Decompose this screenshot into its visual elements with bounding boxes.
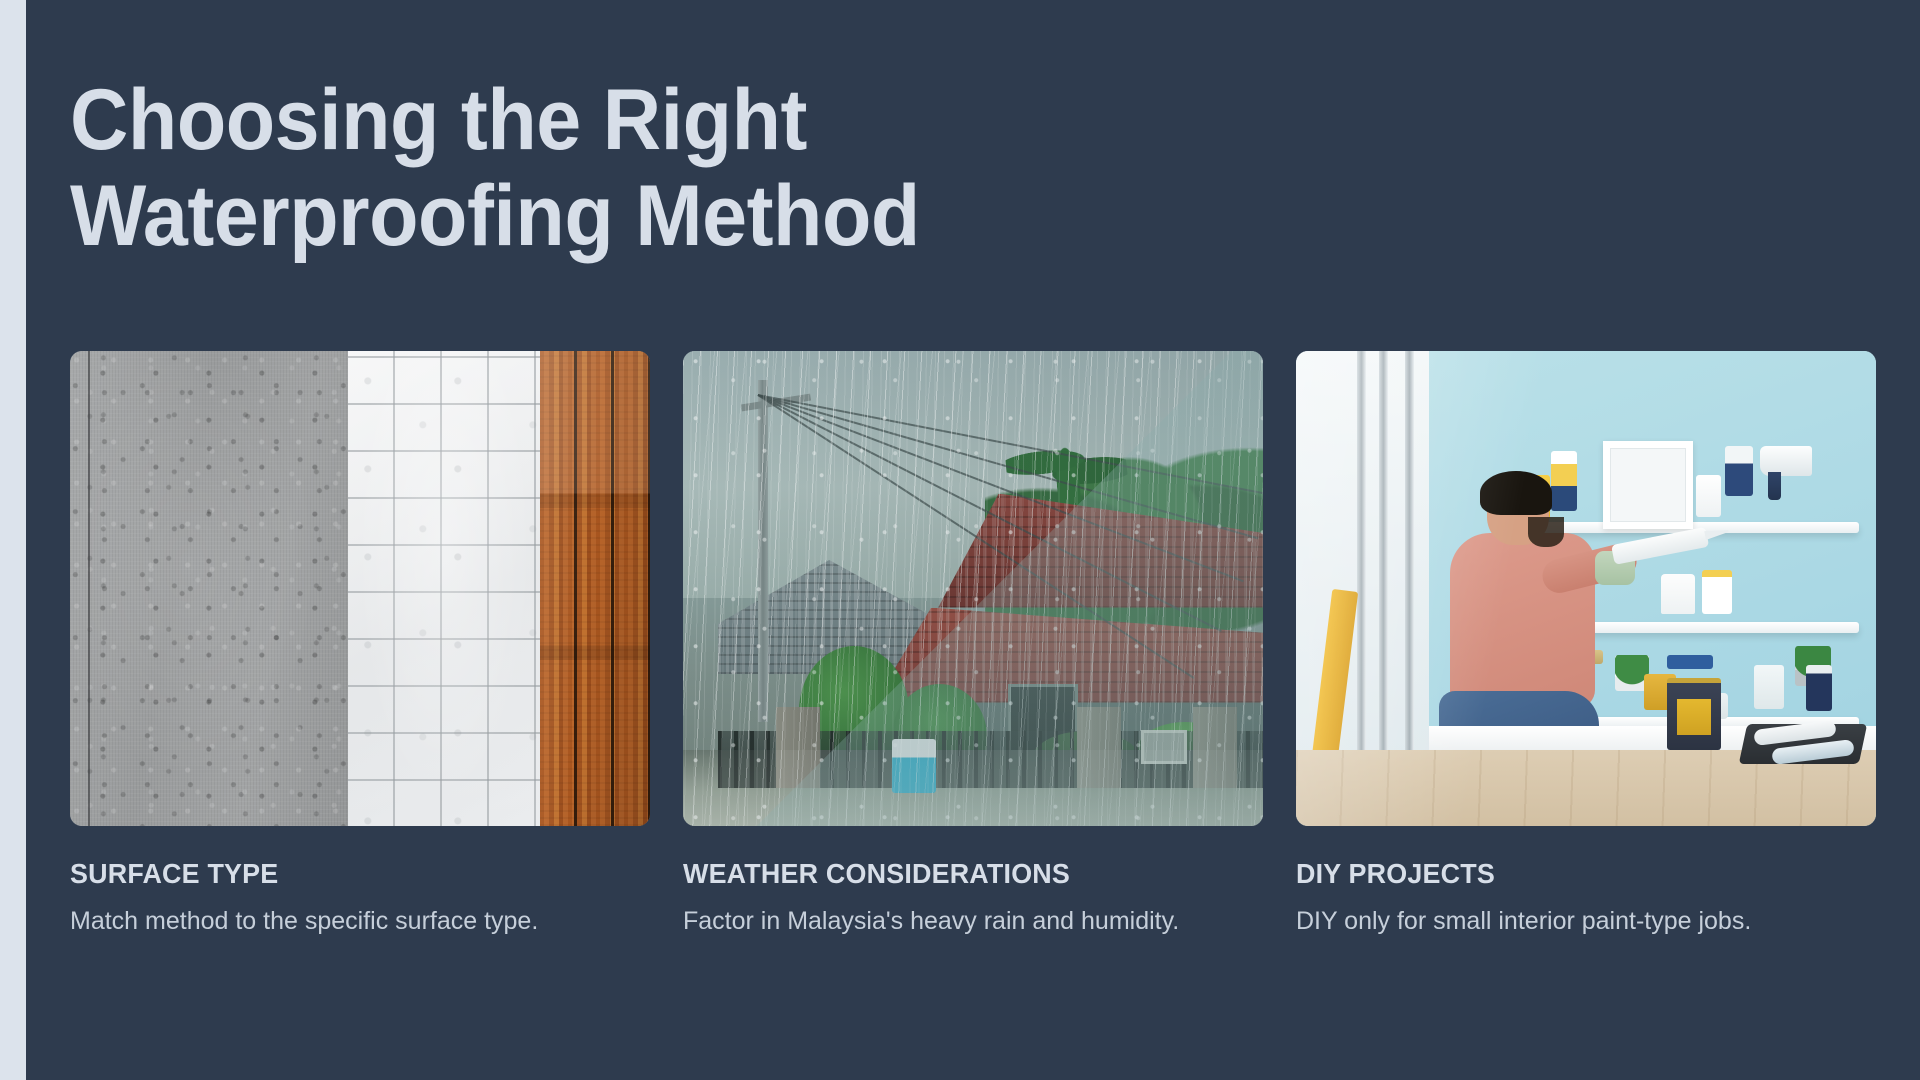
person-beard	[1528, 517, 1564, 547]
wood-panel	[540, 351, 650, 826]
card-image-weather	[683, 351, 1263, 826]
yellow-lid-jar	[1702, 570, 1732, 614]
white-jug	[1754, 665, 1784, 709]
tile-panel	[348, 351, 539, 826]
left-accent-strip	[0, 0, 26, 1080]
card-body-surface-type: Match method to the specific surface typ…	[70, 904, 610, 940]
concrete-panel	[70, 351, 348, 826]
card-surface-type[interactable]: SURFACE TYPE Match method to the specifi…	[70, 351, 650, 940]
caulk-gun-shelf	[1760, 446, 1812, 476]
navy-cleaner-bottle	[1806, 665, 1832, 711]
card-diy-projects[interactable]: DIY PROJECTS DIY only for small interior…	[1296, 351, 1876, 940]
page-title: Choosing the Right Waterproofing Method	[70, 72, 1198, 265]
card-heading-weather: WEATHER CONSIDERATIONS	[683, 858, 1240, 890]
rain-color-tint	[683, 351, 1263, 826]
card-image-surface-type	[70, 351, 650, 826]
white-jar	[1696, 475, 1721, 517]
paint-can	[1667, 678, 1721, 750]
person-hair	[1480, 471, 1552, 515]
card-weather-considerations[interactable]: WEATHER CONSIDERATIONS Factor in Malaysi…	[683, 351, 1263, 940]
window-mullion	[1379, 351, 1388, 760]
card-heading-surface-type: SURFACE TYPE	[70, 858, 627, 890]
window-mullion	[1357, 351, 1366, 760]
card-body-diy: DIY only for small interior paint-type j…	[1296, 904, 1836, 940]
blue-box	[1667, 655, 1713, 669]
slide-root: Choosing the Right Waterproofing Method …	[0, 0, 1920, 1080]
slide-panel: Choosing the Right Waterproofing Method …	[26, 0, 1920, 1080]
window	[1296, 351, 1429, 760]
navy-bottle	[1725, 446, 1753, 496]
card-image-diy	[1296, 351, 1876, 826]
white-lamp	[1661, 574, 1695, 614]
diy-room-scene	[1296, 351, 1876, 826]
cards-row: SURFACE TYPE Match method to the specifi…	[70, 351, 1882, 940]
card-heading-diy: DIY PROJECTS	[1296, 858, 1853, 890]
window-mullion	[1405, 351, 1414, 760]
surface-panels	[70, 351, 650, 826]
card-body-weather: Factor in Malaysia's heavy rain and humi…	[683, 904, 1223, 940]
rain-scene	[683, 351, 1263, 826]
